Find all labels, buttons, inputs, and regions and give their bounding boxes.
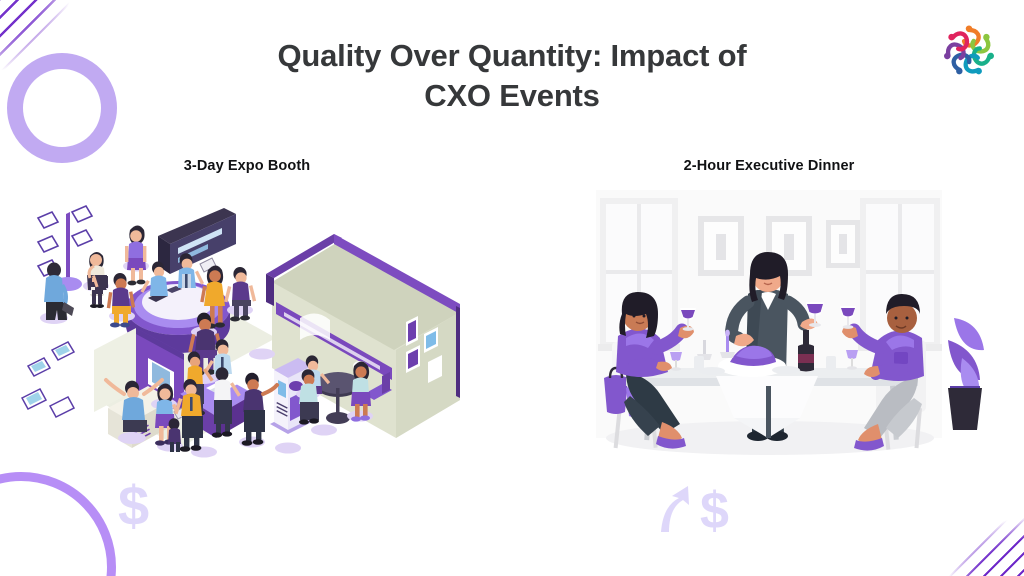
panel-title-executive-dinner: 2-Hour Executive Dinner: [530, 158, 1008, 174]
page-title-line-1: Quality Over Quantity: Impact of: [152, 36, 872, 76]
dollar-sign-icon-left: $: [118, 478, 149, 534]
page-title-line-2: CXO Events: [152, 76, 872, 116]
ring-top-left-decoration: [7, 53, 117, 163]
slide-canvas: Quality Over Quantity: Impact of CXO Eve…: [0, 0, 1024, 576]
panel-expo-booth: 3-Day Expo Booth: [8, 158, 486, 558]
panel-title-expo-booth: 3-Day Expo Booth: [8, 158, 486, 174]
page-title: Quality Over Quantity: Impact of CXO Eve…: [152, 36, 872, 115]
panel-executive-dinner: 2-Hour Executive Dinner: [530, 158, 1008, 558]
illustration-executive-dinner: [530, 190, 1008, 480]
growth-arrow-icon: [655, 480, 705, 536]
people-circle-logo-icon: [938, 20, 1000, 82]
dollar-sign-icon-right: $: [700, 485, 729, 537]
illustration-isometric-expo-booth: [8, 190, 486, 480]
diagonal-stripes-top-left-decoration: [0, 0, 140, 144]
